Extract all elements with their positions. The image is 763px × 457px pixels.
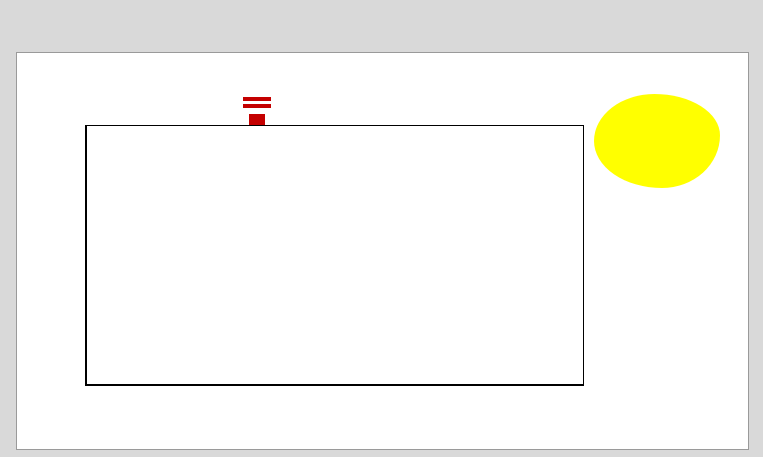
x-axis-ticks bbox=[85, 386, 584, 393]
chart-figure bbox=[16, 52, 749, 450]
chart-legend bbox=[592, 93, 748, 443]
plot-area bbox=[85, 125, 584, 386]
highlight-circle bbox=[594, 94, 720, 188]
series-layer bbox=[87, 126, 586, 387]
